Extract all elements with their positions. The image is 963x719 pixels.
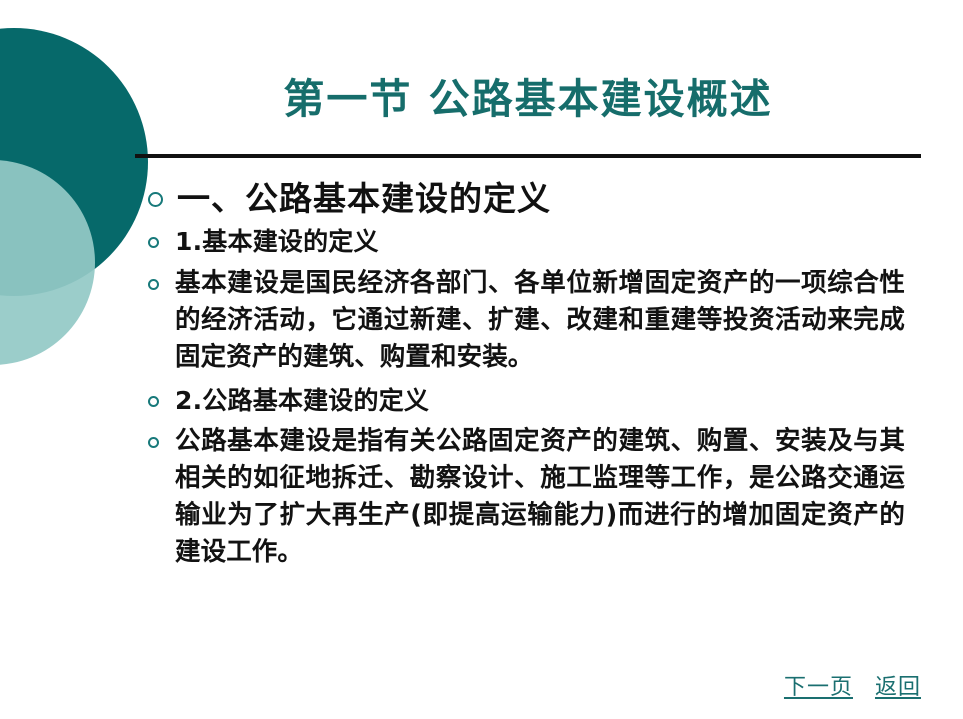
paragraph-2-item: 公路基本建设是指有关公路固定资产的建筑、购置、安装及与其相关的如征地拆迁、勘察设… (148, 423, 938, 571)
paragraph-2-text: 公路基本建设是指有关公路固定资产的建筑、购置、安装及与其相关的如征地拆迁、勘察设… (175, 423, 905, 571)
title-block: 第一节 公路基本建设概述 (135, 76, 921, 123)
section-heading-label: 一、公路基本建设的定义 (177, 178, 551, 220)
circle-bullet-icon (148, 396, 159, 407)
subsection-1-text: 1.基本建设的定义 (175, 224, 379, 260)
page-title: 第一节 公路基本建设概述 (135, 76, 921, 123)
footer-navigation: 下一页 返回 (784, 669, 921, 701)
subsection-2-number: 2. (175, 386, 202, 415)
presentation-slide: 第一节 公路基本建设概述 一、公路基本建设的定义 1.基本建设的定义 基本建设是… (0, 0, 963, 719)
circle-bullet-icon (148, 192, 163, 207)
paragraph-1-text: 基本建设是国民经济各部门、各单位新增固定资产的一项综合性的经济活动，它通过新建、… (175, 265, 905, 376)
title-divider (135, 154, 921, 158)
subsection-1-label: 基本建设的定义 (202, 227, 378, 256)
circle-bullet-icon (148, 437, 159, 448)
slide-content: 一、公路基本建设的定义 1.基本建设的定义 基本建设是国民经济各部门、各单位新增… (148, 178, 938, 578)
circle-bullet-icon (148, 237, 159, 248)
subsection-1-item: 1.基本建设的定义 (148, 224, 938, 260)
subsection-2-item: 2.公路基本建设的定义 (148, 383, 938, 419)
next-page-link[interactable]: 下一页 (784, 669, 853, 701)
paragraph-1-item: 基本建设是国民经济各部门、各单位新增固定资产的一项综合性的经济活动，它通过新建、… (148, 265, 938, 376)
subsection-2-label: 公路基本建设的定义 (202, 386, 429, 415)
back-link[interactable]: 返回 (875, 669, 921, 701)
subsection-2-text: 2.公路基本建设的定义 (175, 383, 429, 419)
subsection-1-number: 1. (175, 227, 202, 256)
section-heading-item: 一、公路基本建设的定义 (148, 178, 938, 220)
circle-bullet-icon (148, 279, 159, 290)
